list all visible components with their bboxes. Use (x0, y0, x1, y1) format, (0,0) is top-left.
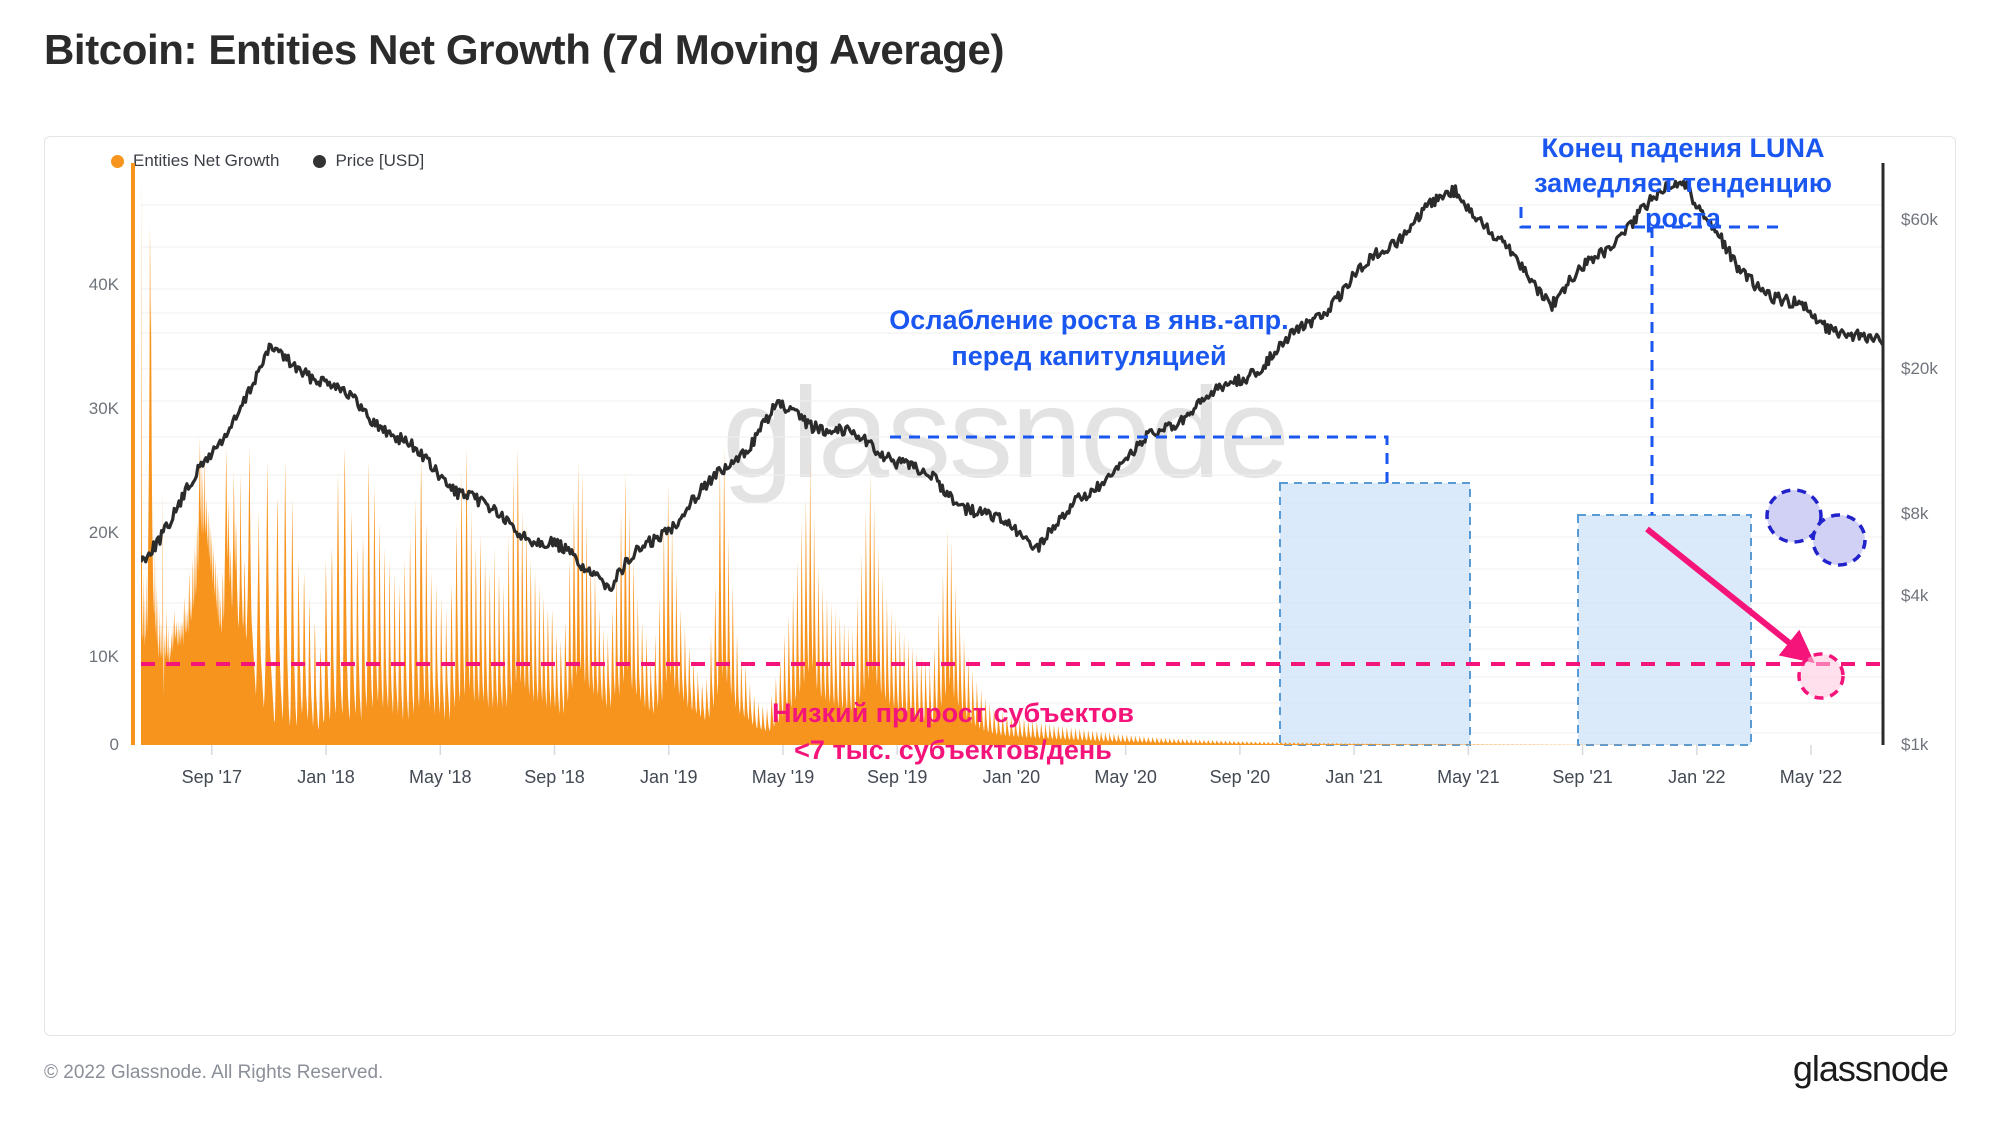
svg-text:40K: 40K (89, 275, 120, 294)
blue-circle-spike-2 (1813, 515, 1865, 565)
pink-circle-low-growth (1799, 654, 1843, 698)
annotation-connector-right (1521, 207, 1783, 515)
highlight-box-2021 (1280, 483, 1470, 745)
svg-text:20K: 20K (89, 523, 120, 542)
annotation-text-blue-right: Конец падения LUNA замедляет тенденцию р… (1534, 137, 1832, 233)
x-tick-label: Jan '19 (640, 767, 697, 787)
x-tick-label: May '18 (409, 767, 471, 787)
x-tick-label: Sep '17 (182, 767, 243, 787)
y-axis-right-labels: $60k $20k $8k $4k $1k (1901, 210, 1938, 754)
svg-text:Конец падения LUNA: Конец падения LUNA (1541, 137, 1824, 163)
footer-copyright: © 2022 Glassnode. All Rights Reserved. (44, 1062, 383, 1084)
svg-text:Низкий прирост субъектов: Низкий прирост субъектов (772, 698, 1134, 728)
page-title: Bitcoin: Entities Net Growth (7d Moving … (44, 26, 1004, 74)
x-tick-label: May '19 (752, 767, 814, 787)
x-tick-label: Sep '20 (1210, 767, 1271, 787)
chart-card: Entities Net Growth Price [USD] glassnod… (44, 136, 1956, 1036)
svg-text:$8k: $8k (1901, 504, 1929, 523)
chart-plot-area: glassnode (45, 137, 1957, 1035)
svg-text:роста: роста (1645, 203, 1722, 233)
watermark-glassnode: glassnode (722, 362, 1288, 505)
x-tick-label: May '21 (1437, 767, 1499, 787)
y-axis-left-labels: 40K 30K 20K 10K 0 (89, 275, 120, 754)
svg-text:замедляет тенденцию: замедляет тенденцию (1534, 168, 1832, 198)
x-tick-label: May '20 (1094, 767, 1156, 787)
x-tick-label: May '22 (1780, 767, 1842, 787)
svg-text:<7 тыс. субъектов/день: <7 тыс. субъектов/день (794, 735, 1112, 765)
footer-brand-logo: glassnode (1793, 1048, 1948, 1090)
svg-text:10K: 10K (89, 647, 120, 666)
svg-text:Ослабление роста в янв.-апр.: Ослабление роста в янв.-апр. (889, 305, 1288, 335)
svg-text:перед капитуляцией: перед капитуляцией (951, 341, 1226, 371)
svg-text:$60k: $60k (1901, 210, 1938, 229)
x-tick-label: Sep '19 (867, 767, 928, 787)
highlight-boxes (1280, 483, 1751, 745)
highlight-box-2022 (1578, 515, 1751, 745)
x-tick-label: Sep '18 (524, 767, 585, 787)
svg-text:30K: 30K (89, 399, 120, 418)
x-tick-label: Jan '18 (297, 767, 354, 787)
x-tick-label: Jan '21 (1325, 767, 1382, 787)
chart-page: Bitcoin: Entities Net Growth (7d Moving … (0, 0, 2000, 1126)
x-tick-label: Sep '21 (1552, 767, 1613, 787)
svg-text:$20k: $20k (1901, 359, 1938, 378)
x-tick-label: Jan '22 (1668, 767, 1725, 787)
svg-text:0: 0 (110, 735, 119, 754)
svg-text:$4k: $4k (1901, 586, 1929, 605)
annotation-circles-blue (1767, 490, 1865, 565)
svg-text:$1k: $1k (1901, 735, 1929, 754)
x-tick-label: Jan '20 (983, 767, 1040, 787)
